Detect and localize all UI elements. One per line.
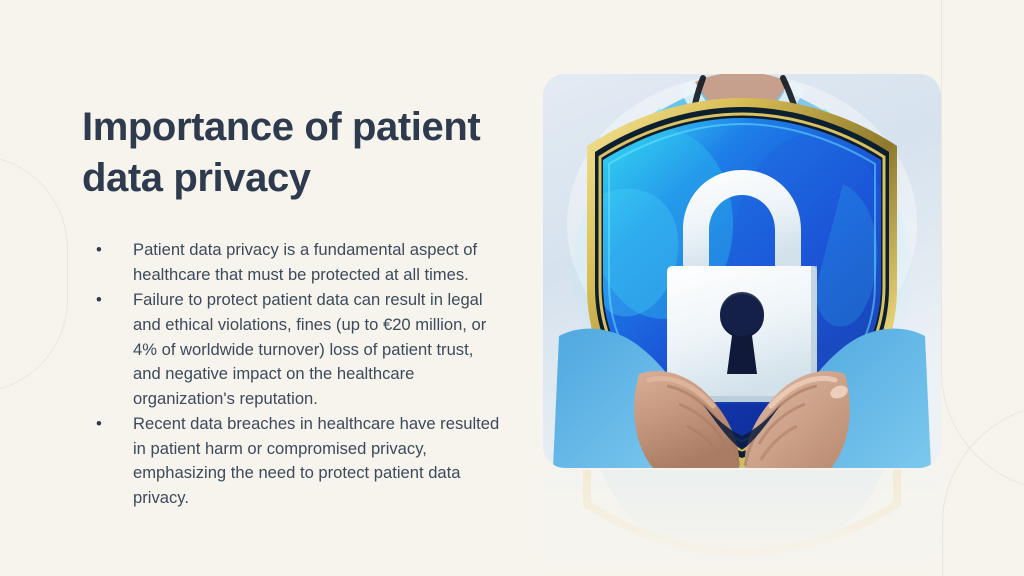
list-item: • Patient data privacy is a fundamental … [82, 238, 502, 287]
decorative-outline-top-right [941, 0, 1024, 491]
shield-lock-svg-reflection [543, 470, 941, 576]
bullet-list: • Patient data privacy is a fundamental … [82, 238, 502, 510]
list-item-text: Recent data breaches in healthcare have … [133, 414, 499, 507]
slide: Importance of patient data privacy • Pat… [0, 0, 1024, 576]
decorative-outline-left [0, 155, 68, 393]
text-column: Importance of patient data privacy • Pat… [82, 102, 502, 511]
bullet-marker-icon: • [96, 288, 102, 313]
list-item-text: Patient data privacy is a fundamental as… [133, 240, 477, 284]
list-item: • Failure to protect patient data can re… [82, 288, 502, 411]
page-title: Importance of patient data privacy [82, 102, 502, 204]
slide-image [543, 74, 941, 468]
shield-lock-svg [543, 74, 941, 468]
list-item-text: Failure to protect patient data can resu… [133, 290, 486, 407]
shield-lock-illustration [543, 74, 941, 468]
list-item: • Recent data breaches in healthcare hav… [82, 412, 502, 510]
bullet-marker-icon: • [96, 412, 102, 437]
decorative-outline-bottom-right [942, 404, 1024, 576]
bullet-marker-icon: • [96, 238, 102, 263]
image-reflection [543, 470, 941, 576]
shield-lock-illustration-reflection [543, 470, 941, 576]
